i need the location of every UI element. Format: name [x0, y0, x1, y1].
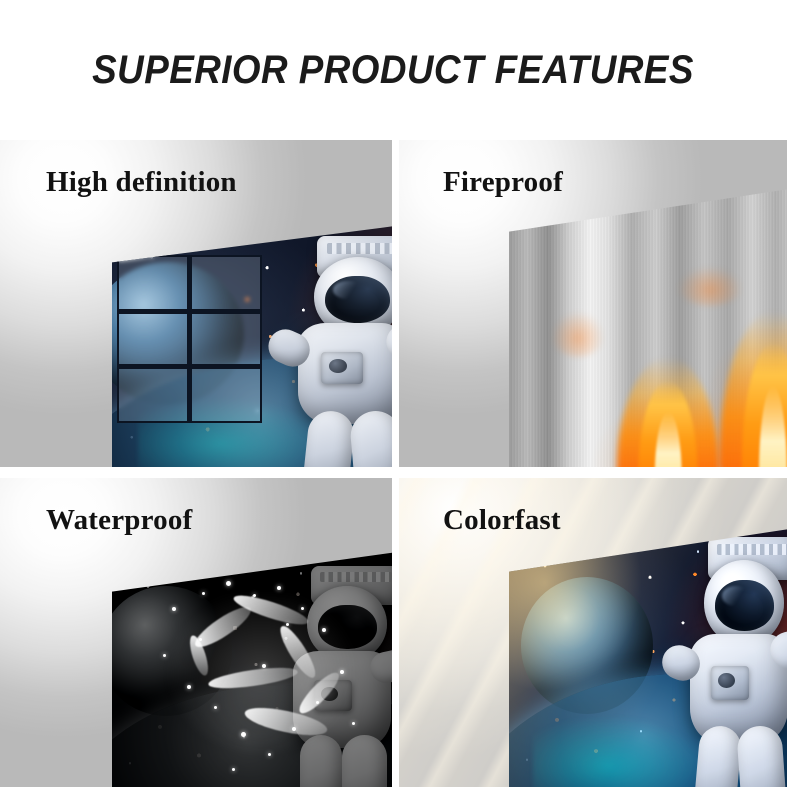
astronaut-chest-module: [711, 666, 749, 700]
flame: [719, 311, 787, 467]
visor-glint: [722, 586, 750, 606]
feature-label-colorfast: Colorfast: [443, 504, 561, 537]
astronaut-chest-module: [314, 680, 352, 711]
feature-label-high-definition: High definition: [46, 166, 237, 199]
astronaut: [262, 550, 392, 787]
astronaut-chest-module: [321, 352, 363, 384]
astronaut-visor: [318, 605, 377, 649]
header: SUPERIOR PRODUCT FEATURES: [0, 0, 787, 140]
astronaut: [264, 225, 392, 467]
resolution-comparison-grid: [119, 257, 261, 421]
feature-grid: High definition: [0, 140, 787, 787]
astronaut-right-leg: [736, 724, 787, 787]
grid-line-vertical: [187, 257, 192, 421]
astronaut-left-leg: [300, 735, 342, 787]
feature-panel-colorfast[interactable]: Colorfast: [399, 478, 787, 787]
grid-line-horizontal: [119, 364, 261, 369]
feature-label-waterproof: Waterproof: [46, 504, 192, 537]
flame: [617, 357, 719, 467]
grid-line-horizontal: [119, 309, 261, 314]
scorch-mark: [551, 311, 605, 357]
product-board-fireproof: [509, 186, 787, 467]
feature-label-fireproof: Fireproof: [443, 166, 563, 199]
feature-panel-waterproof[interactable]: Waterproof: [0, 478, 392, 787]
astronaut-right-leg: [342, 735, 387, 787]
product-features-infographic: SUPERIOR PRODUCT FEATURES High definitio…: [0, 0, 787, 787]
feature-panel-fireproof[interactable]: Fireproof: [399, 140, 787, 467]
product-board-high-definition: [112, 220, 392, 467]
feature-panel-high-definition[interactable]: High definition: [0, 140, 392, 467]
scorch-mark: [677, 266, 743, 306]
astronaut: [659, 526, 787, 787]
page-title: SUPERIOR PRODUCT FEATURES: [93, 48, 695, 93]
